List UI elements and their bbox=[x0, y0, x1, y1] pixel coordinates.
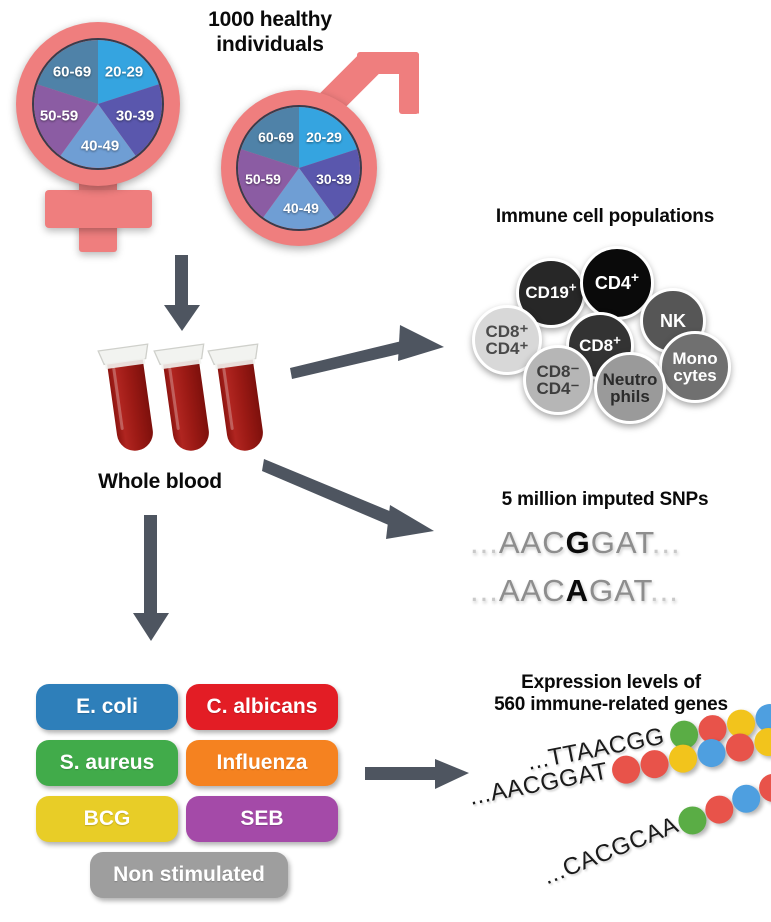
snp-right-bases: GAT bbox=[591, 525, 652, 560]
immune-cell-label: CD8⁻ CD4⁻ bbox=[537, 363, 580, 398]
snp-left-bases: AAC bbox=[499, 525, 566, 560]
expression-strand-sequence: ...CACGCAA bbox=[539, 811, 683, 891]
pie-label-male-40-49: 40-49 bbox=[283, 200, 319, 216]
expression-bead bbox=[755, 770, 771, 806]
snp-prefix-ellipsis: ... bbox=[470, 573, 499, 608]
immune-cell-nk: NK bbox=[640, 288, 706, 354]
expression-bead bbox=[728, 780, 764, 816]
snp-variant-base: G bbox=[566, 525, 591, 560]
immune-cell-neutrophils: Neutro phils bbox=[594, 352, 666, 424]
stimulus-box-saureus[interactable]: S. aureus bbox=[36, 740, 178, 786]
blood-tubes-svg bbox=[95, 335, 275, 465]
female-stem-horizontal bbox=[45, 190, 152, 228]
stimulus-box-nonstimulated[interactable]: Non stimulated bbox=[90, 852, 288, 898]
stimulus-label: Influenza bbox=[216, 751, 307, 775]
page-title-individuals: 1000 healthy individuals bbox=[170, 8, 370, 58]
immune-cell-superscript: + bbox=[631, 269, 639, 285]
arrow-stimuli-to-expression bbox=[365, 755, 470, 795]
expression-bead bbox=[667, 742, 700, 775]
immune-cell-cd8cd4: CD8⁺ CD4⁺ bbox=[472, 305, 542, 375]
snp-left-bases: AAC bbox=[499, 573, 566, 608]
section-title-snps: 5 million imputed SNPs bbox=[450, 489, 760, 511]
immune-cell-label: CD8⁺ CD4⁺ bbox=[486, 323, 529, 358]
immune-cell-cd4: CD4+ bbox=[580, 246, 654, 320]
arrow-blood-to-snps bbox=[262, 455, 442, 555]
expression-bead bbox=[668, 718, 701, 751]
pie-label-60-69: 60-69 bbox=[53, 64, 91, 81]
immune-cell-superscript: + bbox=[613, 333, 621, 348]
section-title-expression: Expression levels of 560 immune-related … bbox=[455, 672, 767, 717]
immune-cell-cd8: CD8+ bbox=[566, 312, 634, 380]
section-title-immune-cells: Immune cell populations bbox=[450, 206, 760, 228]
expression-bead bbox=[724, 731, 757, 764]
immune-cell-label: Neutro phils bbox=[603, 371, 658, 406]
stimulus-label: SEB bbox=[240, 807, 283, 831]
snp-suffix-ellipsis: ... bbox=[652, 525, 681, 560]
stimulus-label: BCG bbox=[84, 807, 131, 831]
stimulus-box-bcg[interactable]: BCG bbox=[36, 796, 178, 842]
stimulus-label: S. aureus bbox=[60, 751, 155, 775]
immune-cell-superscript: + bbox=[569, 280, 577, 295]
expression-bead bbox=[701, 791, 737, 827]
expression-strand-sequence: ...AACGGAT bbox=[467, 757, 610, 811]
arrow-blood-to-immune bbox=[288, 325, 448, 385]
arrow-blood-to-stimuli bbox=[128, 515, 174, 645]
snp-sequence-row: ...AACAGAT... bbox=[470, 573, 679, 609]
immune-cell-monocytes: Mono cytes bbox=[659, 331, 731, 403]
snp-right-bases: GAT bbox=[589, 573, 650, 608]
immune-cell-cd8cd4: CD8⁻ CD4⁻ bbox=[523, 345, 593, 415]
expression-bead bbox=[752, 726, 771, 759]
expression-bead bbox=[696, 713, 729, 746]
expression-bead bbox=[638, 748, 671, 781]
pie-label-male-50-59: 50-59 bbox=[245, 171, 281, 187]
pie-label-male-20-29: 20-29 bbox=[306, 129, 342, 145]
immune-cell-label: CD4+ bbox=[595, 274, 639, 292]
pie-label-40-49: 40-49 bbox=[81, 138, 119, 155]
stimulus-box-calbicans[interactable]: C. albicans bbox=[186, 684, 338, 730]
snp-suffix-ellipsis: ... bbox=[650, 573, 679, 608]
pie-label-male-60-69: 60-69 bbox=[258, 129, 294, 145]
arrow-individuals-to-blood bbox=[160, 255, 204, 335]
expression-bead bbox=[695, 737, 728, 770]
stimulus-label: C. albicans bbox=[207, 695, 318, 719]
blood-tubes bbox=[95, 335, 275, 465]
stimulus-box-seb[interactable]: SEB bbox=[186, 796, 338, 842]
stimulus-box-influenza[interactable]: Influenza bbox=[186, 740, 338, 786]
snp-sequence-row: ...AACGGAT... bbox=[470, 525, 681, 561]
immune-cell-label: CD8+ bbox=[579, 337, 621, 354]
pie-label-30-39: 30-39 bbox=[116, 108, 154, 125]
expression-bead bbox=[610, 753, 643, 786]
immune-cell-label: Mono cytes bbox=[672, 350, 717, 385]
diagram-canvas: 1000 healthy individuals 20-29 30-39 40-… bbox=[0, 0, 771, 922]
pie-label-20-29: 20-29 bbox=[105, 64, 143, 81]
immune-cell-cd19: CD19+ bbox=[516, 258, 586, 328]
pie-label-male-30-39: 30-39 bbox=[316, 171, 352, 187]
stimulus-label: E. coli bbox=[76, 695, 138, 719]
stimulus-label: Non stimulated bbox=[113, 863, 265, 887]
snp-sequence-block: ...AACGGAT......AACAGAT... bbox=[470, 525, 760, 615]
male-symbol: 20-29 30-39 40-49 50-59 60-69 bbox=[207, 52, 427, 247]
stimulus-box-ecoli[interactable]: E. coli bbox=[36, 684, 178, 730]
expression-strand-sequence: ...TTAACGG bbox=[525, 723, 667, 777]
snp-variant-base: A bbox=[566, 573, 589, 608]
female-symbol: 20-29 30-39 40-49 50-59 60-69 bbox=[8, 12, 198, 252]
expression-bead bbox=[674, 802, 710, 838]
snp-prefix-ellipsis: ... bbox=[470, 525, 499, 560]
immune-cell-label: NK bbox=[660, 312, 686, 330]
immune-cell-label: CD19+ bbox=[525, 284, 576, 301]
label-whole-blood: Whole blood bbox=[60, 470, 260, 495]
pie-label-50-59: 50-59 bbox=[40, 108, 78, 125]
